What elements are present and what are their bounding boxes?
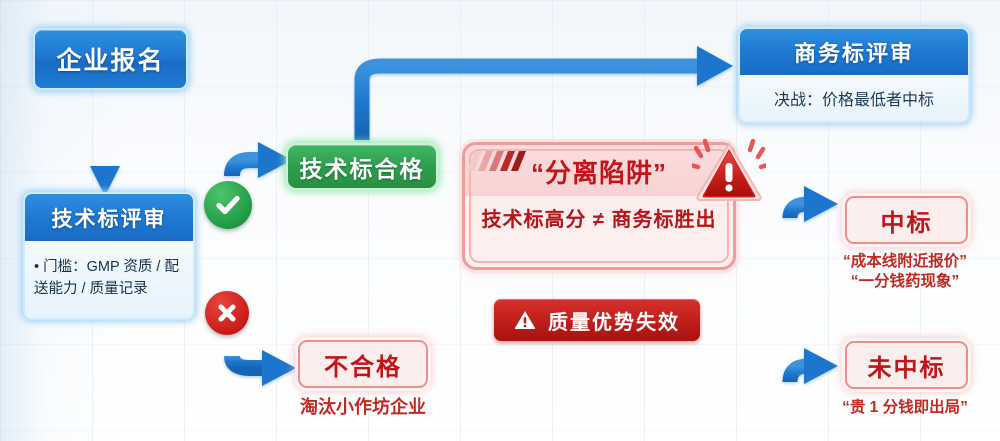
quality-advantage-invalid-badge[interactable]: 质量优势失效 (494, 299, 700, 341)
node-commercial-review[interactable]: 商务标评审 决战：价格最低者中标 (738, 27, 970, 123)
node-technical-qualified[interactable]: 技术标合格 (286, 143, 438, 190)
node-bid-won-label: 中标 (881, 203, 933, 238)
caption-bid-won-line2: “一分钱药现象” (810, 272, 1000, 292)
caption-technical-unqualified: 淘汰小作坊企业 (283, 396, 443, 419)
node-technical-unqualified-label: 不合格 (324, 347, 402, 382)
warning-triangle-icon (692, 136, 766, 210)
node-commercial-review-title: 商务标评审 (740, 29, 968, 75)
node-enterprise-application-label: 企业报名 (56, 41, 164, 77)
node-bid-won[interactable]: 中标 (845, 196, 968, 244)
node-technical-review-bullet: • 门槛：GMP 资质 / 配送能力 / 质量记录 (25, 241, 193, 318)
node-technical-review[interactable]: 技术标评审 • 门槛：GMP 资质 / 配送能力 / 质量记录 (23, 192, 195, 320)
node-technical-review-title: 技术标评审 (25, 194, 193, 241)
node-technical-qualified-label: 技术标合格 (300, 150, 425, 184)
diagram-canvas: 企业报名 技术标评审 • 门槛：GMP 资质 / 配送能力 / 质量记录 技术标… (0, 0, 1000, 441)
node-commercial-review-subtitle: 决战：价格最低者中标 (740, 75, 968, 121)
node-technical-unqualified[interactable]: 不合格 (298, 340, 428, 388)
caption-bid-won-line1: “成本线附近报价” (810, 252, 1000, 272)
node-enterprise-application[interactable]: 企业报名 (33, 28, 188, 90)
warning-triangle-small-icon (514, 310, 536, 330)
caption-bid-won: “成本线附近报价” “一分钱药现象” (810, 252, 1000, 292)
caption-bid-lost: “贵 1 分钱即出局” (810, 398, 1000, 418)
cross-circle-icon (205, 291, 249, 335)
node-bid-lost-label: 未中标 (868, 348, 946, 383)
node-bid-lost[interactable]: 未中标 (845, 341, 968, 389)
check-circle-icon (204, 181, 252, 229)
quality-advantage-invalid-label: 质量优势失效 (548, 306, 680, 335)
